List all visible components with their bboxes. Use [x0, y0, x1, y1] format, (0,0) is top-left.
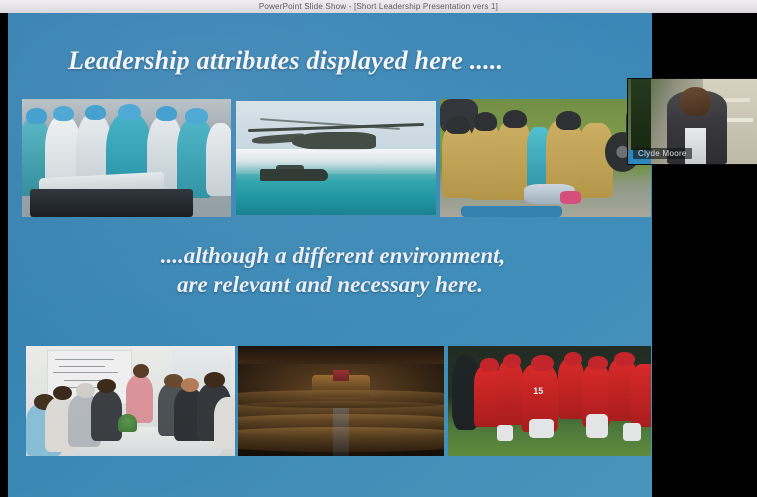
presentation-slide[interactable]: Leadership attributes displayed here ...…: [8, 13, 652, 497]
photo-medical-team: Surgical medical team in scrubs treating…: [22, 99, 231, 217]
photo-legislative-chamber: Legislative chamber filled with represen…: [238, 346, 444, 456]
photo-business-meeting: Business team meeting around a conferenc…: [26, 346, 235, 456]
webcam-video-tile[interactable]: Clyde Moore: [627, 78, 757, 165]
screen: PowerPoint Slide Show - [Short Leadershi…: [0, 0, 757, 497]
window-title-bar: PowerPoint Slide Show - [Short Leadershi…: [0, 0, 757, 13]
photo-firefighters: Firefighters in turnout gear rescuing a …: [440, 99, 651, 217]
slide-subhead-line-1: ....although a different environment,: [8, 241, 652, 270]
window-title-text: PowerPoint Slide Show - [Short Leadershi…: [259, 2, 498, 11]
slide-subhead: ....although a different environment, ar…: [8, 241, 652, 299]
slide-subhead-line-2: are relevant and necessary here.: [8, 270, 652, 299]
jersey-number: 15: [533, 386, 543, 396]
participant-name-label: Clyde Moore: [633, 148, 692, 159]
photo-helicopter: Military helicopter hovering over the se…: [236, 101, 436, 215]
letterbox-left: [0, 13, 8, 497]
slide-headline: Leadership attributes displayed here ...…: [68, 46, 628, 76]
photo-football-players: 15 Football players in red jerseys celeb…: [448, 346, 651, 456]
webcam-person-head: [680, 87, 711, 116]
